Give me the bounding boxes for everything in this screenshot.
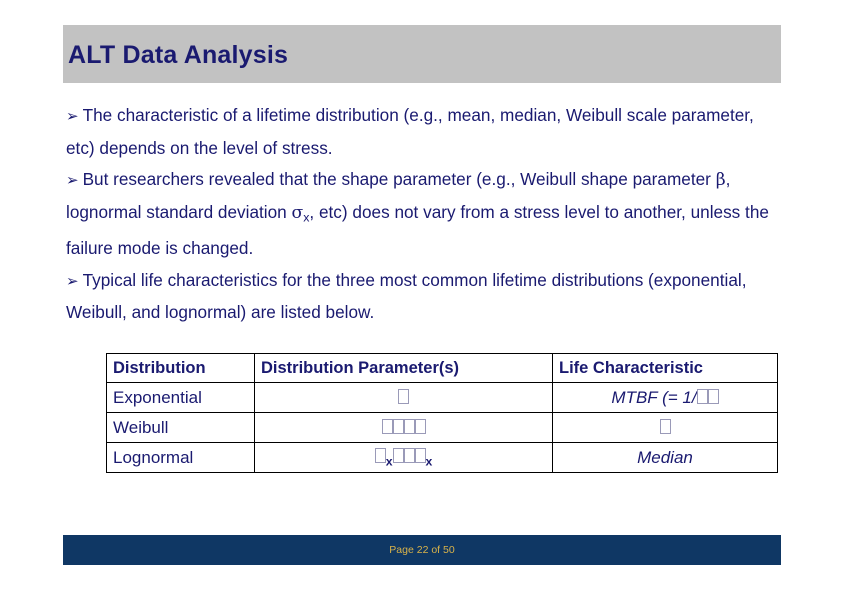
column-header-distribution: Distribution xyxy=(107,354,255,383)
life-characteristics-table: Distribution Distribution Parameter(s) L… xyxy=(106,353,778,473)
missing-glyph-box xyxy=(393,448,404,463)
cell-life-lognormal: Median xyxy=(553,443,778,473)
paragraph-2-text-part1: But researchers revealed that the shape … xyxy=(83,169,716,189)
body-paragraph-1: ➢The characteristic of a lifetime distri… xyxy=(66,100,776,164)
cell-parameters-lognormal: xx xyxy=(255,443,553,473)
column-header-parameters: Distribution Parameter(s) xyxy=(255,354,553,383)
paragraph-1-text: The characteristic of a lifetime distrib… xyxy=(66,105,754,158)
paragraph-3-text: Typical life characteristics for the thr… xyxy=(66,270,746,323)
body-paragraph-2: ➢But researchers revealed that the shape… xyxy=(66,164,776,265)
body-paragraph-3: ➢Typical life characteristics for the th… xyxy=(66,265,776,329)
cell-life-exponential-text: MTBF (= 1/ xyxy=(611,388,696,407)
bullet-arrow-icon: ➢ xyxy=(66,171,83,189)
table-header-row: Distribution Distribution Parameter(s) L… xyxy=(107,354,778,383)
page-title: ALT Data Analysis xyxy=(68,41,288,70)
missing-glyph-box xyxy=(708,389,719,404)
missing-glyph-box xyxy=(382,419,393,434)
missing-glyph-box xyxy=(415,419,426,434)
cell-parameters-weibull xyxy=(255,413,553,443)
missing-glyph-box xyxy=(660,419,671,434)
missing-glyph-box xyxy=(404,448,415,463)
body-content: ➢The characteristic of a lifetime distri… xyxy=(66,100,776,329)
parameter-subscript-x: x xyxy=(386,454,393,468)
slide-canvas: ALT Data Analysis ➢The characteristic of… xyxy=(0,0,842,595)
missing-glyph-box xyxy=(697,389,708,404)
missing-glyph-box xyxy=(404,419,415,434)
bullet-arrow-icon: ➢ xyxy=(66,107,83,125)
table-row: Weibull xyxy=(107,413,778,443)
table-row: Exponential MTBF (= 1/ xyxy=(107,383,778,413)
cell-distribution-exponential: Exponential xyxy=(107,383,255,413)
parameter-subscript-x: x xyxy=(426,454,433,468)
beta-symbol: β xyxy=(716,170,726,190)
cell-distribution-lognormal: Lognormal xyxy=(107,443,255,473)
cell-distribution-weibull: Weibull xyxy=(107,413,255,443)
cell-life-exponential: MTBF (= 1/ xyxy=(553,383,778,413)
missing-glyph-box xyxy=(393,419,404,434)
page-number-label: Page 22 of 50 xyxy=(63,535,781,565)
bullet-arrow-icon: ➢ xyxy=(66,272,83,290)
missing-glyph-box xyxy=(415,448,426,463)
cell-parameters-exponential xyxy=(255,383,553,413)
sigma-symbol: σ xyxy=(292,203,304,223)
missing-glyph-box xyxy=(398,389,409,404)
column-header-life-characteristic: Life Characteristic xyxy=(553,354,778,383)
table-row: Lognormal xx Median xyxy=(107,443,778,473)
life-characteristics-table-wrapper: Distribution Distribution Parameter(s) L… xyxy=(106,353,738,473)
missing-glyph-box xyxy=(375,448,386,463)
cell-life-weibull xyxy=(553,413,778,443)
